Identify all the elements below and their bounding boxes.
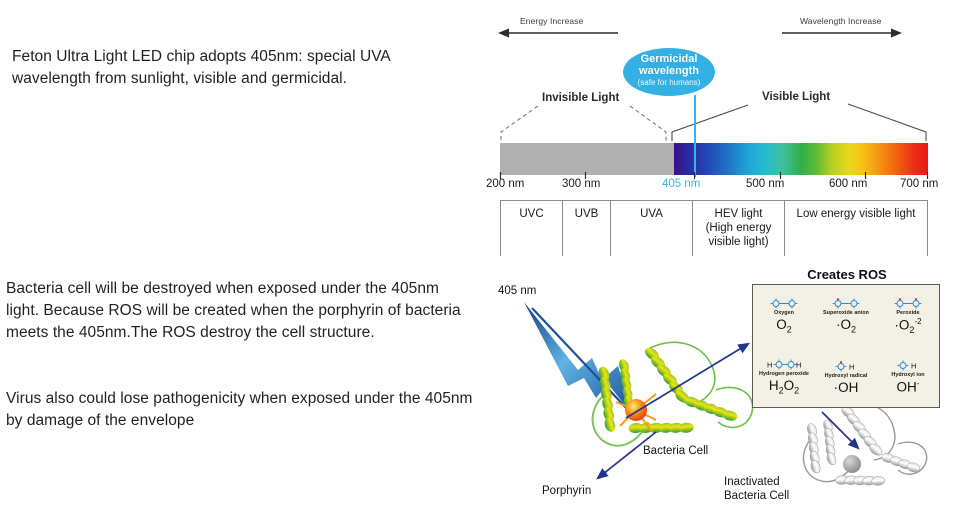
ros-formula: H2O2 [769, 378, 799, 396]
inactivated-bacteria-cell-label: Inactivated Bacteria Cell [724, 475, 806, 504]
ros-cell-hydrogen-peroxide: H H Hydrogen peroxide H2O2 [753, 346, 815, 407]
svg-text:H: H [849, 362, 854, 371]
ultraviolet-band [500, 143, 674, 175]
peroxide-molecule-icon [891, 298, 925, 309]
visible-band-gradient [674, 143, 928, 175]
marker-405nm [694, 95, 696, 177]
category-cell-uva: UVA [610, 201, 692, 256]
germicidal-wavelength-bubble: Germicidal wavelength (safe for humans) [623, 48, 715, 96]
axis-label-700nm: 700 nm [900, 178, 938, 190]
spectrum-bar [500, 143, 928, 175]
visible-light-label: Visible Light [762, 91, 830, 103]
bubble-line-3: (safe for humans) [623, 79, 715, 88]
region-bracket-lines [480, 0, 960, 150]
hydroxyl-radical-molecule-icon: H [831, 361, 861, 372]
ros-name: Superoxide anion [823, 310, 869, 316]
ros-name: Hydrogen peroxide [759, 371, 809, 377]
hydrogen-peroxide-molecule-icon: H H [767, 359, 801, 370]
invisible-light-label: Invisible Light [542, 92, 619, 104]
axis-label-405nm: 405 nm [662, 178, 700, 190]
category-cell-uvc: UVC [500, 201, 562, 256]
hydroxyl-ion-molecule-icon: H [893, 360, 923, 371]
ros-formula: OH- [897, 379, 920, 395]
spectrum-figure: Energy Increase Wavelength Increase Germ… [480, 0, 960, 262]
ros-cell-hydroxyl-ion: H Hydroxyl ion OH- [877, 346, 939, 407]
mechanism-figure: 405 nm Porphyrin Bacteria Cell Inactivat… [480, 262, 960, 520]
ros-formula: ·O2 [836, 317, 856, 335]
axis-label-300nm: 300 nm [562, 178, 600, 190]
ros-cell-superoxide-anion: Superoxide anion ·O2 [815, 285, 877, 346]
svg-text:H: H [796, 361, 801, 370]
bacteria-cell-label: Bacteria Cell [643, 444, 708, 458]
ros-formula: O2 [776, 317, 792, 335]
axis-label-500nm: 500 nm [746, 178, 784, 190]
category-cell-hev: HEV light (High energy visible light) [692, 201, 784, 256]
inactivated-bacteria-graphic [798, 403, 926, 488]
intro-paragraph: Feton Ultra Light LED chip adopts 405nm:… [12, 46, 472, 91]
ros-name: Oxygen [774, 310, 794, 316]
ros-formula: ·O2-2 [894, 317, 921, 335]
axis-label-600nm: 600 nm [829, 178, 867, 190]
ros-species-box: Oxygen O2 Superoxide anion ·O2 [752, 284, 940, 408]
ros-formula: ·OH [834, 380, 859, 395]
slide-canvas: Feton Ultra Light LED chip adopts 405nm:… [0, 0, 960, 520]
ros-name: Peroxide [896, 310, 919, 316]
beam-label-405nm: 405 nm [498, 284, 536, 298]
category-cell-low-energy: Low energy visible light [784, 201, 928, 256]
svg-text:H: H [911, 362, 916, 371]
svg-text:H: H [767, 361, 772, 370]
ros-name: Hydroxyl ion [891, 372, 924, 378]
ros-cell-peroxide: Peroxide ·O2-2 [877, 285, 939, 346]
category-cell-uvb: UVB [562, 201, 610, 256]
creates-ros-title: Creates ROS [779, 267, 915, 282]
oxygen-molecule-icon [767, 298, 801, 309]
virus-paragraph: Virus also could lose pathogenicity when… [6, 388, 474, 433]
bacteria-paragraph: Bacteria cell will be destroyed when exp… [6, 278, 474, 345]
bubble-line-2: wavelength [623, 66, 715, 78]
porphyrin-label: Porphyrin [542, 484, 591, 498]
spectrum-category-table: UVC UVB UVA HEV light (High energy visib… [500, 200, 928, 256]
arrow-to-ros [626, 344, 748, 418]
axis-tick-marks [480, 172, 960, 184]
porphyrin-molecule [625, 399, 647, 421]
ros-cell-hydroxyl-radical: H Hydroxyl radical ·OH [815, 346, 877, 407]
ros-name: Hydroxyl radical [825, 373, 868, 379]
superoxide-molecule-icon [829, 298, 863, 309]
axis-label-200nm: 200 nm [486, 178, 524, 190]
ros-cell-oxygen: Oxygen O2 [753, 285, 815, 346]
